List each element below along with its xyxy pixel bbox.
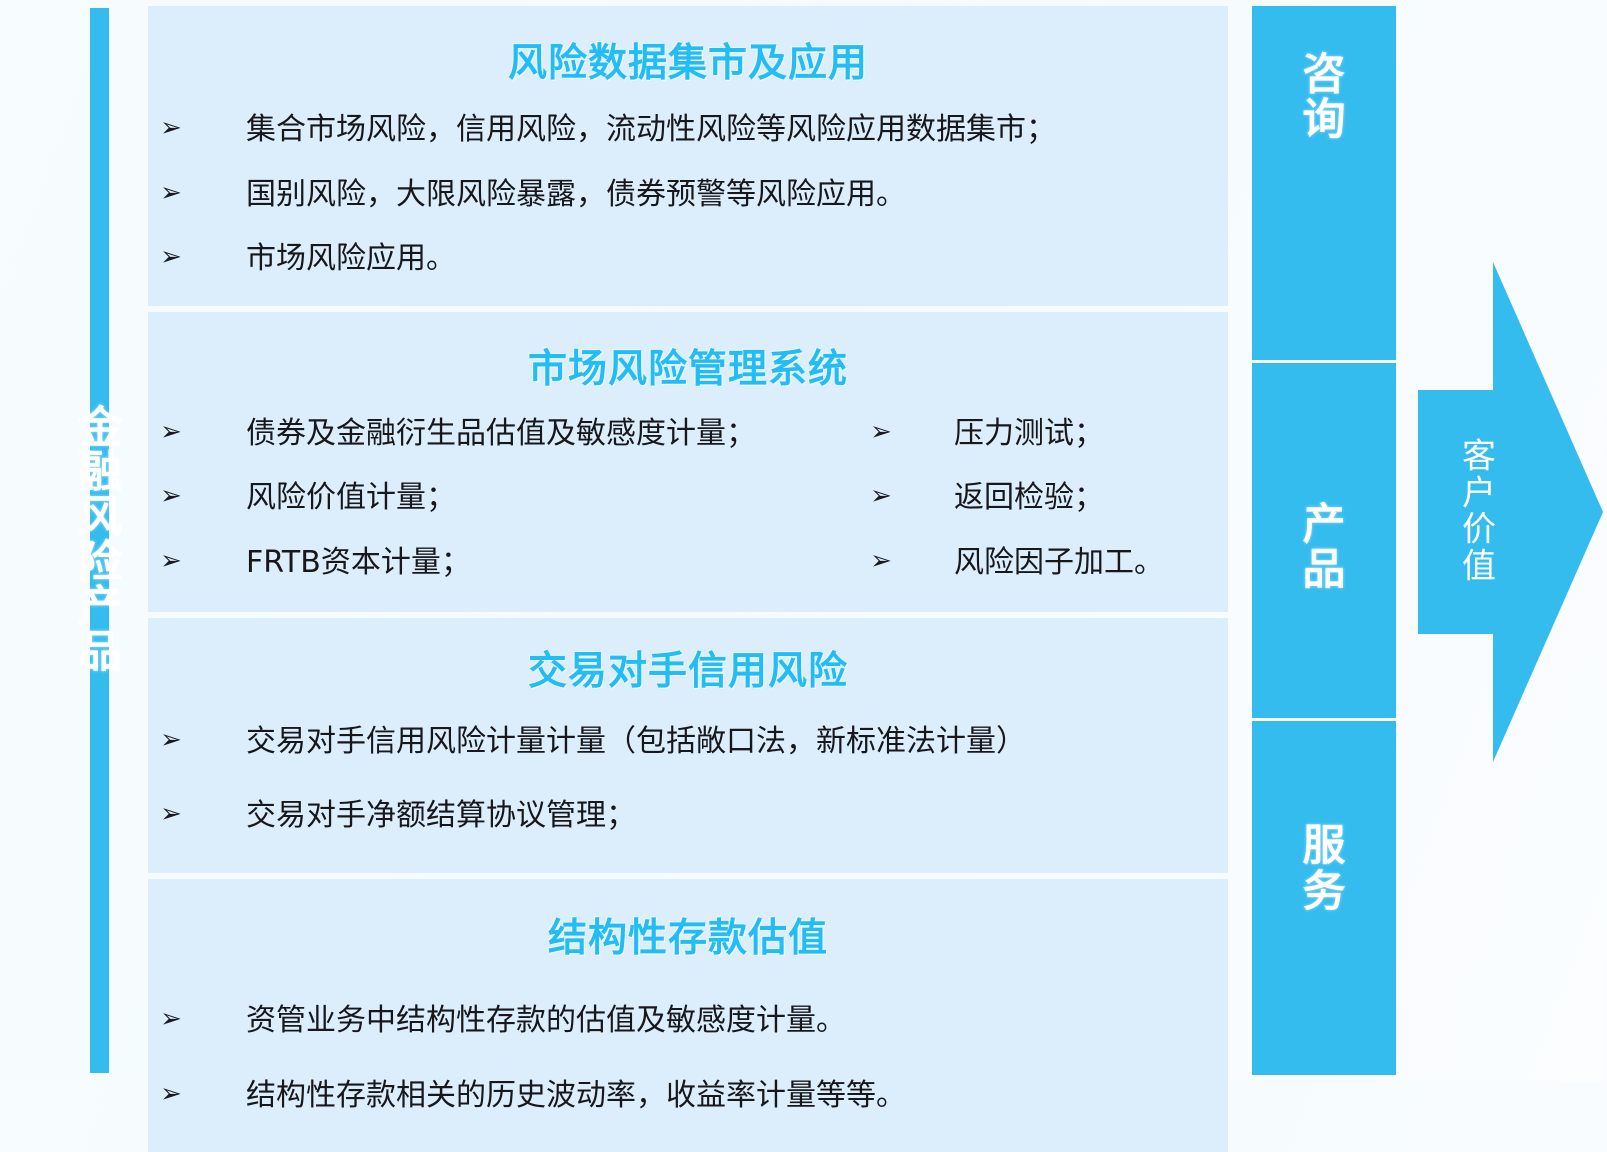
arrow-bullet-icon: ➢ bbox=[158, 1003, 184, 1036]
list-item-label: 国别风险，大限风险暴露，债券预警等风险应用。 bbox=[246, 177, 1228, 214]
panel-counterparty-credit-risk: 交易对手信用风险 ➢ 交易对手信用风险计量计量（包括敞口法，新标准法计量） ➢ … bbox=[148, 618, 1228, 873]
arrow-bullet-icon: ➢ bbox=[158, 241, 184, 274]
bullet-column-left: ➢ 债券及金融衍生品估值及敏感度计量； ➢ 风险价值计量； ➢ FRTB资本计量… bbox=[148, 416, 868, 610]
arrow-bullet-icon: ➢ bbox=[868, 480, 894, 513]
list-item-label: 风险因子加工。 bbox=[954, 545, 1228, 582]
bullet-list: ➢ 交易对手信用风险计量计量（包括敞口法，新标准法计量） ➢ 交易对手净额结算协… bbox=[148, 724, 1228, 835]
arrow-bullet-icon: ➢ bbox=[868, 545, 894, 578]
list-item-label: 压力测试； bbox=[954, 416, 1228, 453]
arrow-bullet-icon: ➢ bbox=[158, 480, 184, 513]
service-block-label: 服 务 bbox=[1252, 824, 1396, 914]
arrow-bullet-icon: ➢ bbox=[868, 416, 894, 449]
list-item: ➢ 压力测试； bbox=[868, 416, 1228, 453]
service-block-service: 服 务 bbox=[1252, 721, 1396, 1075]
arrow-bullet-icon: ➢ bbox=[158, 416, 184, 449]
left-category-bar: 金 融 风 险 产 品 bbox=[90, 8, 109, 1073]
list-item-label: 风险价值计量； bbox=[246, 480, 868, 517]
arrow-bullet-icon: ➢ bbox=[158, 177, 184, 210]
list-item-label: 市场风险应用。 bbox=[246, 241, 1228, 278]
service-block-label: 产 品 bbox=[1252, 502, 1396, 592]
list-item: ➢ 市场风险应用。 bbox=[148, 241, 1228, 278]
panel-title: 交易对手信用风险 bbox=[148, 618, 1228, 696]
arrow-bullet-icon: ➢ bbox=[158, 112, 184, 145]
panel-title: 风险数据集市及应用 bbox=[148, 6, 1228, 88]
list-item: ➢ 交易对手净额结算协议管理； bbox=[148, 798, 1228, 835]
list-item: ➢ 风险因子加工。 bbox=[868, 545, 1228, 582]
list-item: ➢ 国别风险，大限风险暴露，债券预警等风险应用。 bbox=[148, 177, 1228, 214]
service-block-product: 产 品 bbox=[1252, 363, 1396, 720]
arrow-bullet-icon: ➢ bbox=[158, 798, 184, 831]
list-item: ➢ 交易对手信用风险计量计量（包括敞口法，新标准法计量） bbox=[148, 724, 1228, 761]
arrow-bullet-icon: ➢ bbox=[158, 724, 184, 757]
list-item: ➢ 资管业务中结构性存款的估值及敏感度计量。 bbox=[148, 1003, 1228, 1040]
list-item-label: 资管业务中结构性存款的估值及敏感度计量。 bbox=[246, 1003, 1228, 1040]
panel-title: 市场风险管理系统 bbox=[148, 312, 1228, 394]
left-category-label: 金 融 风 险 产 品 bbox=[68, 406, 132, 675]
arrow-bullet-icon: ➢ bbox=[158, 1078, 184, 1111]
list-item: ➢ FRTB资本计量； bbox=[148, 545, 868, 582]
list-item-label: 结构性存款相关的历史波动率，收益率计量等等。 bbox=[246, 1078, 1228, 1115]
service-block-consulting: 咨 询 bbox=[1252, 6, 1396, 363]
service-block-label: 咨 询 bbox=[1252, 53, 1396, 143]
list-item-label: 返回检验； bbox=[954, 480, 1228, 517]
panel-market-risk-system: 市场风险管理系统 ➢ 债券及金融衍生品估值及敏感度计量； ➢ 风险价值计量； ➢… bbox=[148, 312, 1228, 612]
panel-title: 结构性存款估值 bbox=[148, 879, 1228, 963]
bullet-list: ➢ 集合市场风险，信用风险，流动性风险等风险应用数据集市； ➢ 国别风险，大限风… bbox=[148, 112, 1228, 278]
list-item: ➢ 结构性存款相关的历史波动率，收益率计量等等。 bbox=[148, 1078, 1228, 1115]
list-item-label: FRTB资本计量； bbox=[246, 545, 868, 582]
panel-structured-deposit-valuation: 结构性存款估值 ➢ 资管业务中结构性存款的估值及敏感度计量。 ➢ 结构性存款相关… bbox=[148, 879, 1228, 1152]
bullet-column-right: ➢ 压力测试； ➢ 返回检验； ➢ 风险因子加工。 bbox=[868, 416, 1228, 610]
panel-risk-data-mart: 风险数据集市及应用 ➢ 集合市场风险，信用风险，流动性风险等风险应用数据集市； … bbox=[148, 6, 1228, 306]
list-item-label: 交易对手净额结算协议管理； bbox=[246, 798, 1228, 835]
right-arrow-icon bbox=[1418, 262, 1603, 762]
product-panel-stack: 风险数据集市及应用 ➢ 集合市场风险，信用风险，流动性风险等风险应用数据集市； … bbox=[148, 6, 1228, 1075]
bullet-list: ➢ 债券及金融衍生品估值及敏感度计量； ➢ 风险价值计量； ➢ FRTB资本计量… bbox=[148, 416, 1228, 610]
list-item: ➢ 返回检验； bbox=[868, 480, 1228, 517]
list-item: ➢ 债券及金融衍生品估值及敏感度计量； bbox=[148, 416, 868, 453]
service-stage-column: 咨 询 产 品 服 务 bbox=[1252, 6, 1396, 1075]
customer-value-arrow: 客 户 价 值 bbox=[1418, 262, 1603, 762]
list-item-label: 交易对手信用风险计量计量（包括敞口法，新标准法计量） bbox=[246, 724, 1228, 761]
list-item-label: 集合市场风险，信用风险，流动性风险等风险应用数据集市； bbox=[246, 112, 1228, 149]
list-item-label: 债券及金融衍生品估值及敏感度计量； bbox=[246, 416, 868, 453]
arrow-bullet-icon: ➢ bbox=[158, 545, 184, 578]
list-item: ➢ 风险价值计量； bbox=[148, 480, 868, 517]
bullet-list: ➢ 资管业务中结构性存款的估值及敏感度计量。 ➢ 结构性存款相关的历史波动率，收… bbox=[148, 1003, 1228, 1114]
list-item: ➢ 集合市场风险，信用风险，流动性风险等风险应用数据集市； bbox=[148, 112, 1228, 149]
